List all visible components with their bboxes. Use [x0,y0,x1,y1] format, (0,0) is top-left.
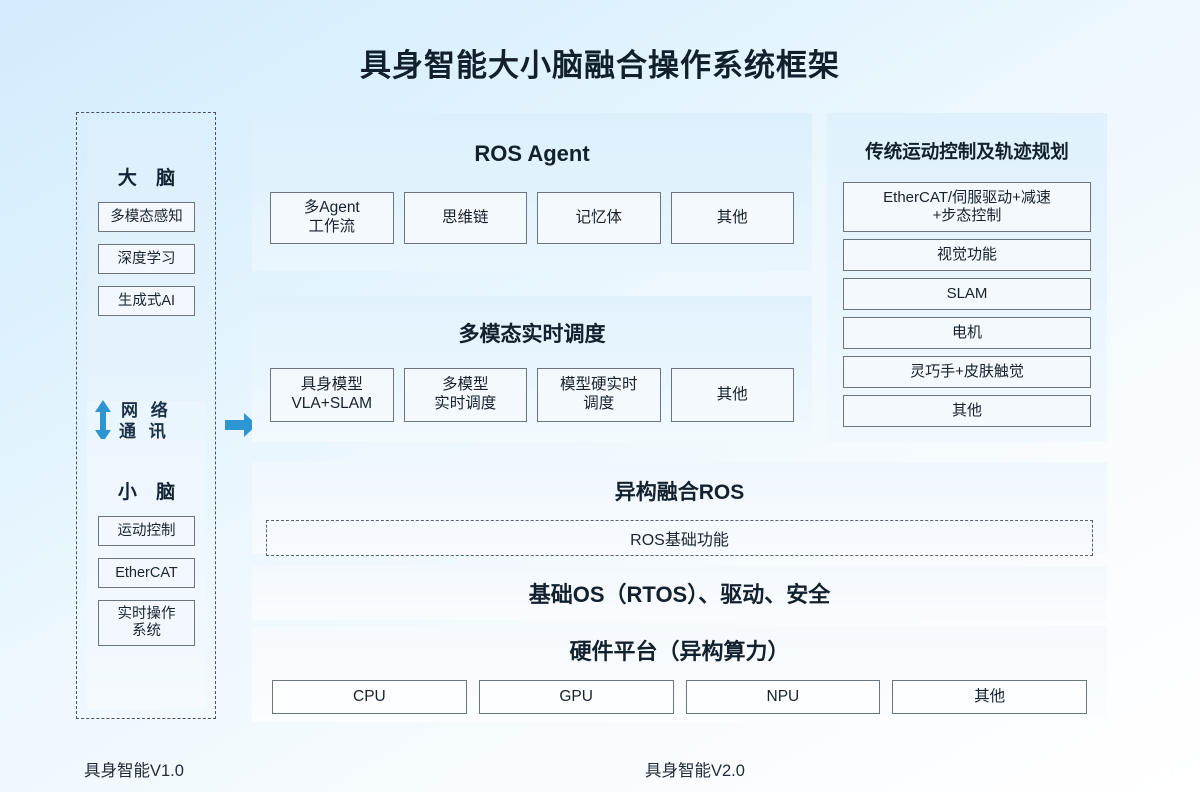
brain-heading: 大 脑 [87,121,206,190]
left-column-inner: 大 脑 多模态感知 深度学习 生成式AI 网 络通 讯 小 脑 运动控制 Eth… [87,121,206,709]
cerebellum-item-1[interactable]: EtherCAT [98,558,195,588]
traditional-item-0[interactable]: EtherCAT/伺服驱动+减速+步态控制 [843,182,1091,232]
multimodal-items: 具身模型VLA+SLAM 多模型实时调度 模型硬实时调度 其他 [252,368,812,422]
double-arrow-vertical-icon [93,399,113,443]
left-column-group: 大 脑 多模态感知 深度学习 生成式AI 网 络通 讯 小 脑 运动控制 Eth… [76,112,216,719]
netcom-line1: 网 络 [121,401,172,420]
network-communication-label: 网 络通 讯 [119,400,172,443]
page-title: 具身智能大小脑融合操作系统框架 [0,40,1200,85]
brain-item-2[interactable]: 生成式AI [98,286,195,316]
traditional-item-4[interactable]: 灵巧手+皮肤触觉 [843,356,1091,388]
footer-label-v1: 具身智能V1.0 [84,757,184,781]
cerebellum-item-0[interactable]: 运动控制 [98,516,195,546]
cerebellum-item-2[interactable]: 实时操作系统 [98,600,195,646]
hardware-item-2[interactable]: NPU [686,680,881,714]
brain-item-1[interactable]: 深度学习 [98,244,195,274]
base-os-title: 基础OS（RTOS）、驱动、安全 [529,577,831,609]
hardware-title: 硬件平台（异构算力） [252,626,1107,666]
brain-section: 大 脑 多模态感知 深度学习 生成式AI [87,121,206,401]
multimodal-scheduling-panel: 多模态实时调度 具身模型VLA+SLAM 多模型实时调度 模型硬实时调度 其他 [252,296,812,442]
ros-base-function-box[interactable]: ROS基础功能 [266,520,1093,556]
hardware-items: CPU GPU NPU 其他 [252,680,1107,714]
brain-item-0[interactable]: 多模态感知 [98,202,195,232]
hardware-platform-panel: 硬件平台（异构算力） CPU GPU NPU 其他 [252,626,1107,722]
heterogeneous-ros-title: 异构融合ROS [252,462,1107,506]
cerebellum-section: 小 脑 运动控制 EtherCAT 实时操作系统 [87,439,206,709]
ros-agent-item-0[interactable]: 多Agent工作流 [270,192,394,244]
ros-agent-panel: ROS Agent 多Agent工作流 思维链 记忆体 其他 [252,113,812,271]
network-communication: 网 络通 讯 [87,399,206,443]
ros-agent-item-1[interactable]: 思维链 [404,192,528,244]
traditional-items: EtherCAT/伺服驱动+减速+步态控制 视觉功能 SLAM 电机 灵巧手+皮… [827,182,1107,427]
cerebellum-heading: 小 脑 [87,439,206,504]
traditional-item-2[interactable]: SLAM [843,278,1091,310]
footer-label-v2: 具身智能V2.0 [645,757,745,781]
ros-agent-title: ROS Agent [252,113,812,167]
hardware-item-1[interactable]: GPU [479,680,674,714]
traditional-item-3[interactable]: 电机 [843,317,1091,349]
traditional-item-1[interactable]: 视觉功能 [843,239,1091,271]
ros-agent-item-3[interactable]: 其他 [671,192,795,244]
traditional-title: 传统运动控制及轨迹规划 [827,113,1107,164]
multimodal-item-3[interactable]: 其他 [671,368,795,422]
multimodal-item-2[interactable]: 模型硬实时调度 [537,368,661,422]
ros-agent-item-2[interactable]: 记忆体 [537,192,661,244]
hardware-item-0[interactable]: CPU [272,680,467,714]
multimodal-item-0[interactable]: 具身模型VLA+SLAM [270,368,394,422]
multimodal-title: 多模态实时调度 [252,296,812,348]
ros-agent-items: 多Agent工作流 思维链 记忆体 其他 [252,192,812,244]
traditional-item-5[interactable]: 其他 [843,395,1091,427]
heterogeneous-ros-panel: 异构融合ROS ROS基础功能 [252,462,1107,554]
traditional-motion-control-panel: 传统运动控制及轨迹规划 EtherCAT/伺服驱动+减速+步态控制 视觉功能 S… [827,113,1107,442]
hardware-item-3[interactable]: 其他 [892,680,1087,714]
base-os-panel: 基础OS（RTOS）、驱动、安全 [252,566,1107,620]
multimodal-item-1[interactable]: 多模型实时调度 [404,368,528,422]
